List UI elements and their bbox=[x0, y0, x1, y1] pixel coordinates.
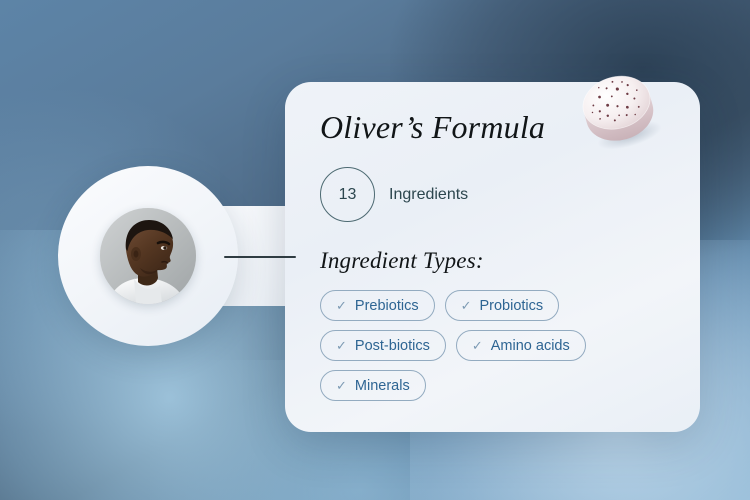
ingredient-type-label: Prebiotics bbox=[355, 298, 419, 314]
ingredient-type-label: Minerals bbox=[355, 378, 410, 394]
ingredient-count-row: 13 Ingredients bbox=[320, 167, 680, 222]
ingredient-type-pill[interactable]: ✓ Minerals bbox=[320, 370, 426, 401]
ingredient-count-label: Ingredients bbox=[389, 186, 468, 204]
ingredient-types-list: ✓ Prebiotics ✓ Probiotics ✓ Post-biotics… bbox=[320, 290, 638, 401]
screenshot-canvas: Oliver’s Formula 13 Ingredients Ingredie… bbox=[0, 0, 750, 500]
ingredient-type-pill[interactable]: ✓ Amino acids bbox=[456, 330, 586, 361]
check-icon: ✓ bbox=[461, 299, 472, 312]
check-icon: ✓ bbox=[472, 339, 483, 352]
avatar[interactable] bbox=[100, 208, 196, 304]
ingredient-type-label: Amino acids bbox=[491, 338, 570, 354]
ingredient-count-badge: 13 bbox=[320, 167, 375, 222]
ingredient-types-heading: Ingredient Types: bbox=[320, 248, 680, 274]
ingredient-type-label: Post-biotics bbox=[355, 338, 430, 354]
ingredient-type-pill[interactable]: ✓ Probiotics bbox=[445, 290, 560, 321]
check-icon: ✓ bbox=[336, 379, 347, 392]
card-content: Oliver’s Formula 13 Ingredients Ingredie… bbox=[320, 100, 680, 401]
connector-line-icon bbox=[224, 256, 296, 258]
check-icon: ✓ bbox=[336, 299, 347, 312]
page-title: Oliver’s Formula bbox=[320, 110, 680, 145]
ingredient-type-label: Probiotics bbox=[479, 298, 543, 314]
ingredient-type-pill[interactable]: ✓ Post-biotics bbox=[320, 330, 446, 361]
check-icon: ✓ bbox=[336, 339, 347, 352]
ingredient-type-pill[interactable]: ✓ Prebiotics bbox=[320, 290, 435, 321]
